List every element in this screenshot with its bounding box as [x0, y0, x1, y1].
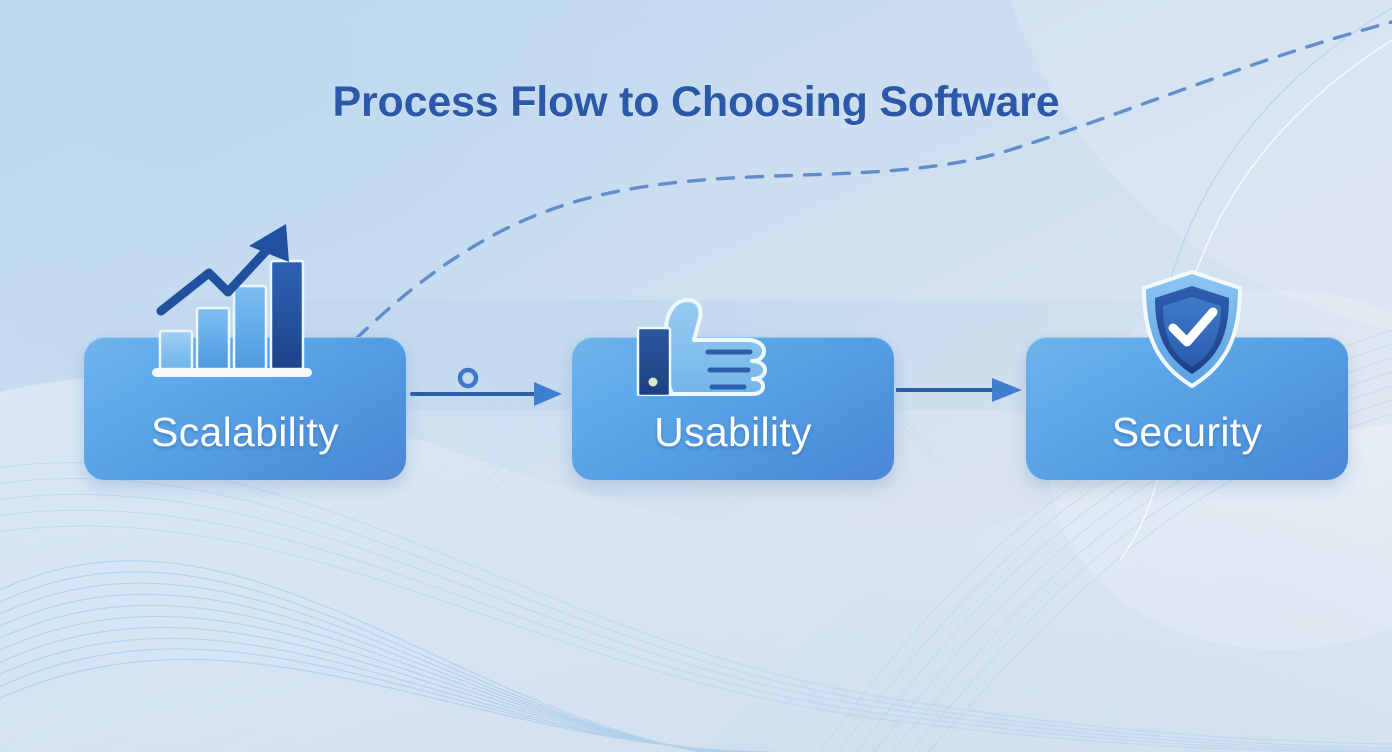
- arrow-usability-to-security: [896, 376, 1030, 404]
- page-title: Process Flow to Choosing Software: [0, 78, 1392, 127]
- arrow-scalability-to-usability: [410, 360, 576, 410]
- step-card-usability[interactable]: Usability: [572, 337, 894, 480]
- step-card-security[interactable]: Security: [1026, 337, 1348, 480]
- step-card-label: Security: [1112, 409, 1263, 456]
- step-card-label: Scalability: [151, 409, 339, 456]
- step-card-scalability[interactable]: Scalability: [84, 337, 406, 480]
- step-card-label: Usability: [654, 409, 812, 456]
- slide-canvas: Process Flow to Choosing Software Scalab…: [0, 0, 1392, 752]
